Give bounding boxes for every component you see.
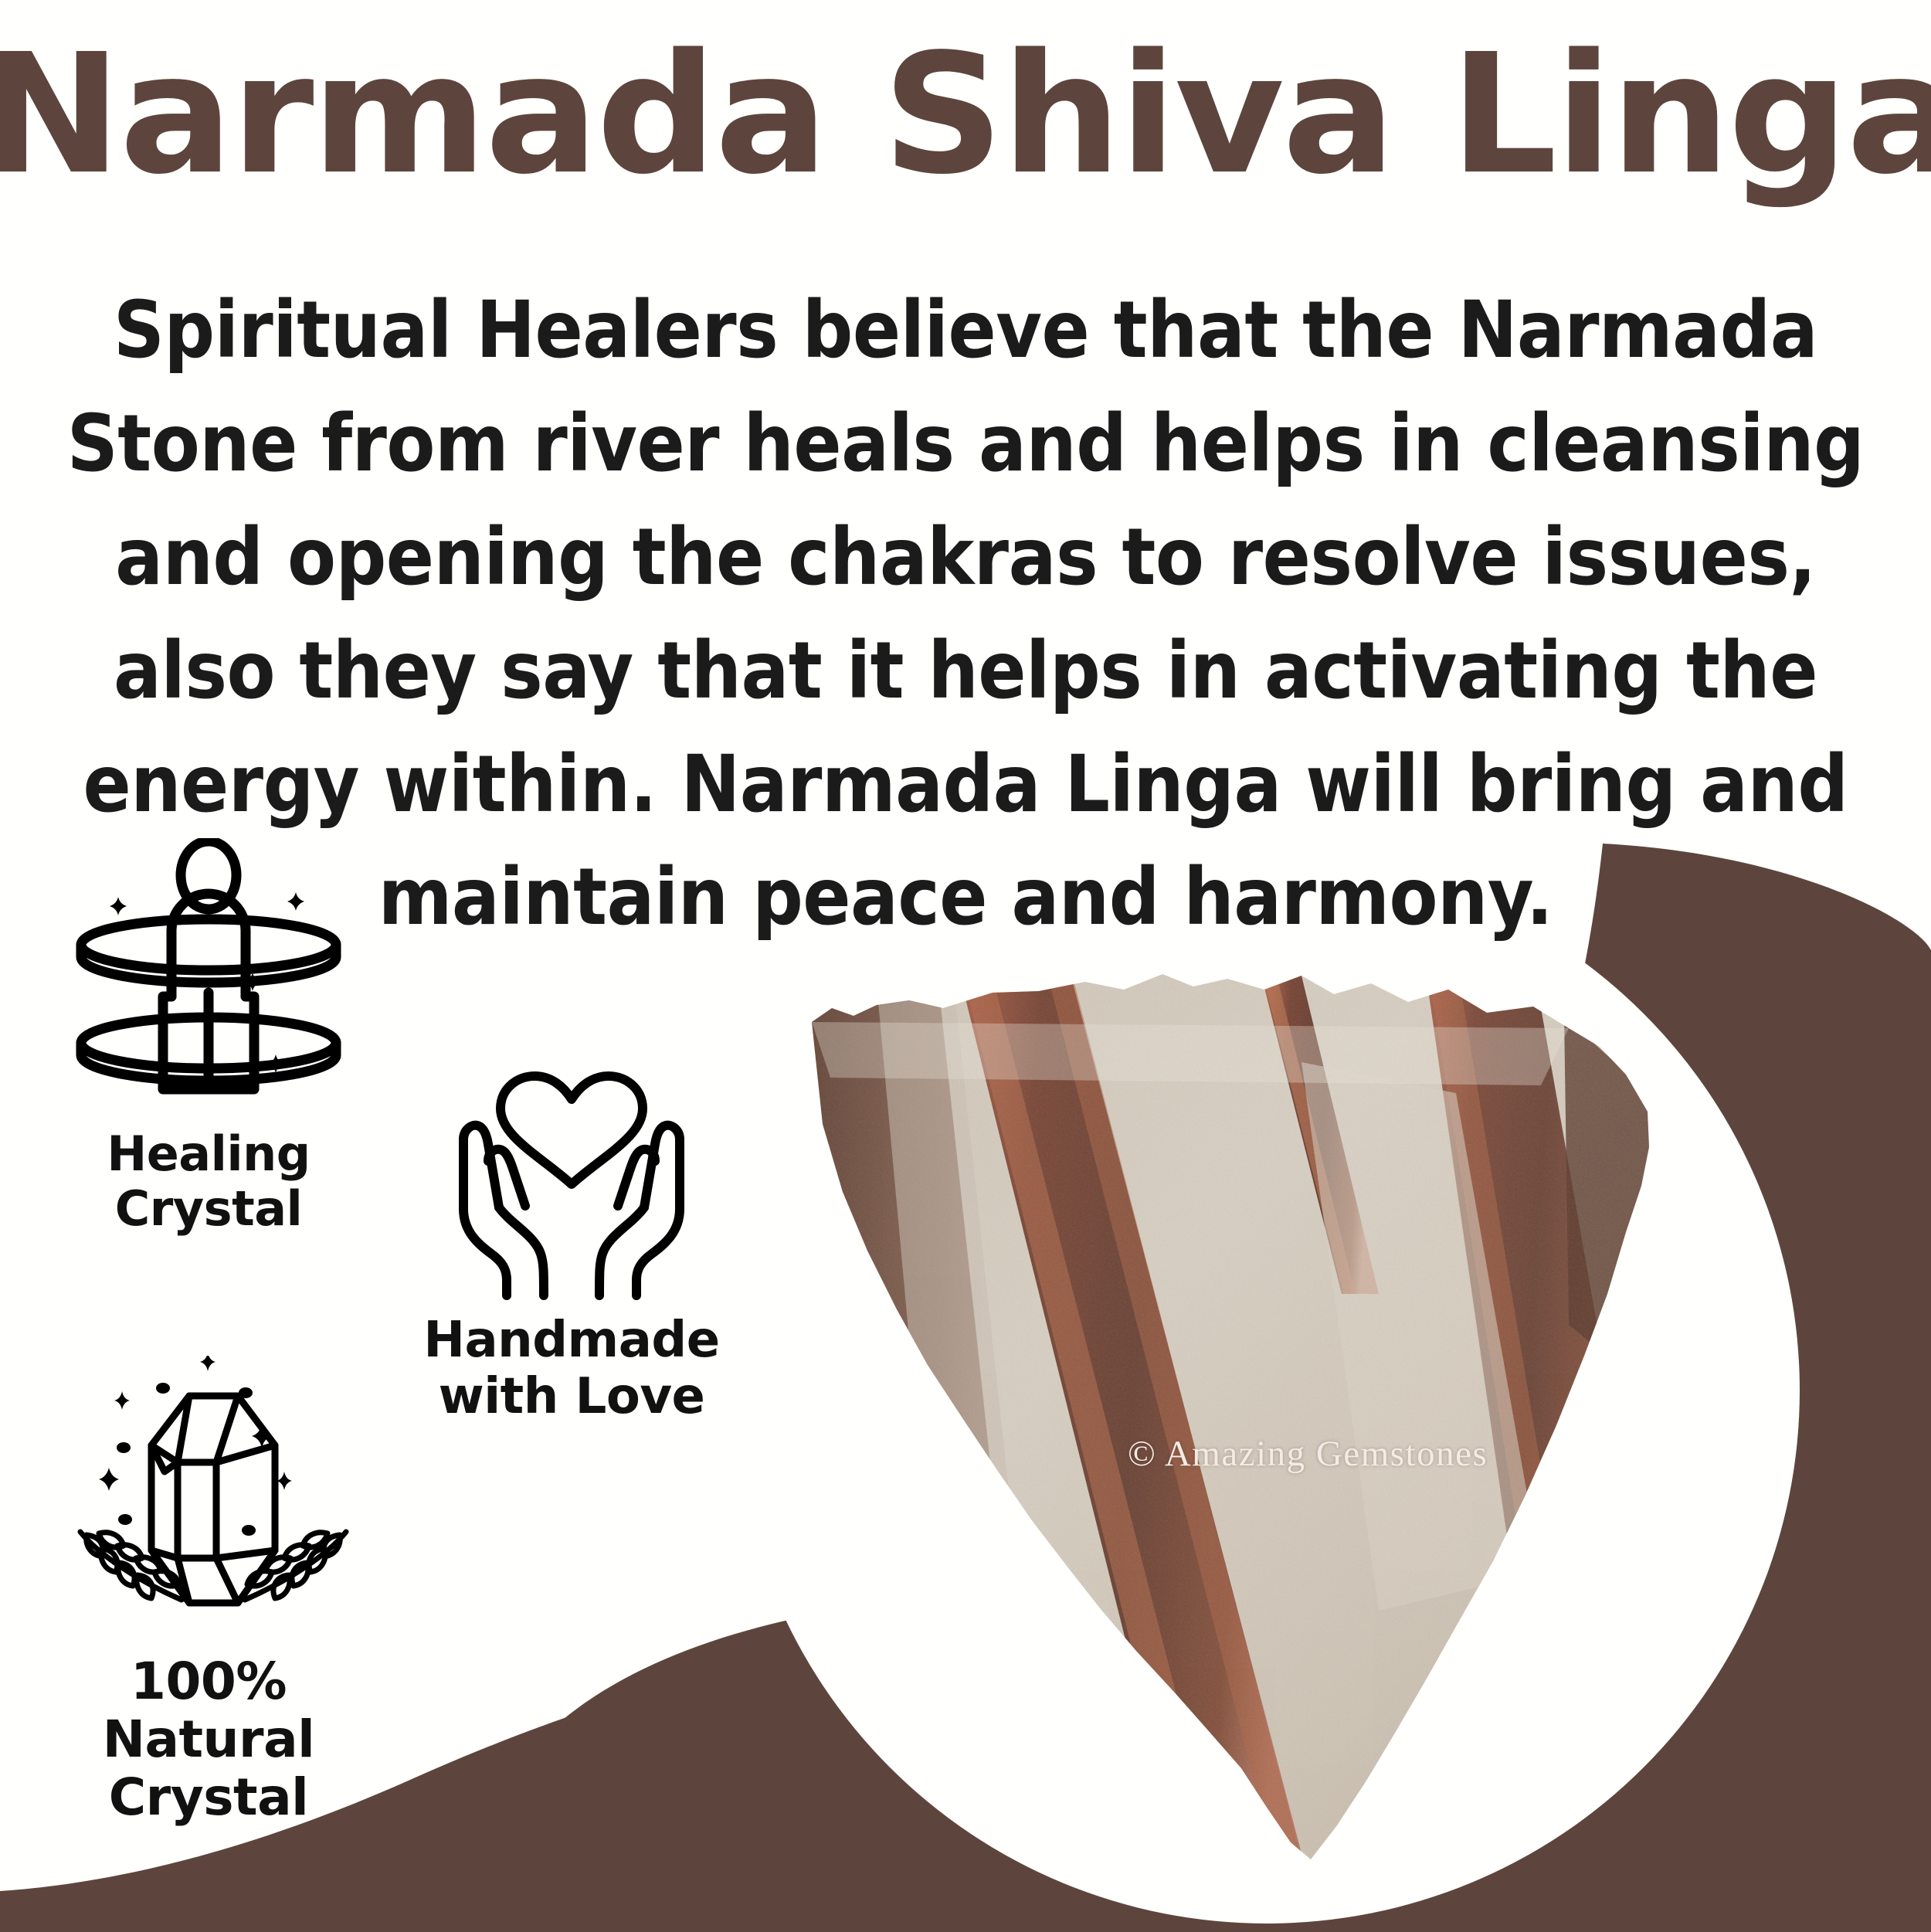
icon-container [23,838,394,1116]
image-watermark: © Amazing Gemstones [1128,1433,1488,1475]
product-photo [761,892,1780,1912]
feature-healing-crystal: Healing Crystal [23,838,394,1236]
narmada-stone-image [761,892,1780,1912]
feature-handmade-with-love: Handmade with Love [382,1070,761,1425]
page-title: Narmada Shiva Lingam [0,32,1931,198]
crystal-laurel-sparkles-icon [54,1356,363,1642]
icon-container [8,1356,409,1642]
heart-in-hands-icon [448,1070,695,1302]
poster-canvas: Narmada Shiva Lingam Spiritual Healers b… [0,0,1931,1932]
feature-handmade-with-love-label: Handmade with Love [382,1312,761,1425]
meditating-figure-aura-icon [54,838,363,1116]
icon-container [382,1070,761,1302]
feature-natural-crystal: 100% Natural Crystal [8,1356,409,1827]
feature-natural-crystal-label: 100% Natural Crystal [8,1652,409,1827]
feature-healing-crystal-label: Healing Crystal [23,1127,394,1236]
